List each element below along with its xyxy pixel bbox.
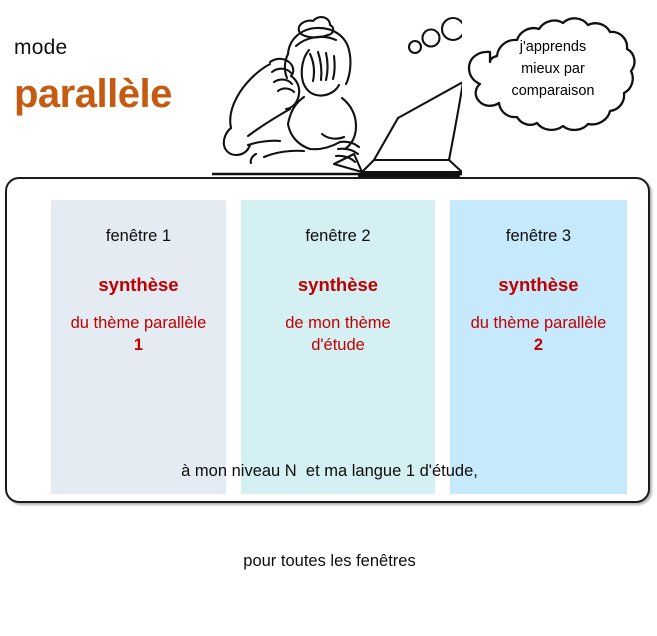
thought-bubble-line-3: comparaison (478, 80, 628, 102)
synthese-heading-1: synthèse (51, 274, 226, 296)
theme-description-text-1: du thème parallèle (71, 314, 207, 332)
theme-description-text-3: du thème parallèle (471, 314, 607, 332)
synthese-heading-3: synthèse (450, 274, 627, 296)
person-thinking-at-laptop-icon (212, 2, 462, 177)
window-column-2[interactable]: fenêtre 2 synthèse de mon thème d'étude (241, 200, 435, 494)
window-column-1[interactable]: fenêtre 1 synthèse du thème parallèle 1 (51, 200, 226, 494)
thought-bubble-line-1: j'apprends (478, 36, 628, 58)
parallel-mode-panel: fenêtre 1 synthèse du thème parallèle 1 … (5, 177, 650, 503)
theme-description-3: du thème parallèle 2 (450, 312, 627, 356)
theme-description-emph-3: 2 (452, 334, 625, 356)
windows-columns: fenêtre 1 synthèse du thème parallèle 1 … (7, 179, 648, 501)
mode-label: mode (14, 36, 67, 60)
theme-description-text-2: de mon thème (285, 314, 390, 332)
synthese-heading-2: synthèse (241, 274, 435, 296)
header: mode parallèle (0, 0, 657, 177)
thought-bubble-text: j'apprends mieux par comparaison (478, 36, 628, 102)
theme-description-1: du thème parallèle 1 (51, 312, 226, 356)
window-column-3[interactable]: fenêtre 3 synthèse du thème parallèle 2 (450, 200, 627, 494)
window-label-1: fenêtre 1 (51, 226, 226, 246)
theme-description-2: de mon thème d'étude (241, 312, 435, 356)
window-label-3: fenêtre 3 (450, 226, 627, 246)
panel-footer-line-2: pour toutes les fenêtres (7, 546, 652, 576)
theme-description-emph-1: 1 (53, 334, 224, 356)
thought-bubble: j'apprends mieux par comparaison (452, 6, 652, 138)
thought-bubble-line-2: mieux par (478, 58, 628, 80)
window-label-2: fenêtre 2 (241, 226, 435, 246)
theme-description-emph-2: d'étude (243, 334, 433, 356)
page-title: parallèle (14, 70, 172, 118)
